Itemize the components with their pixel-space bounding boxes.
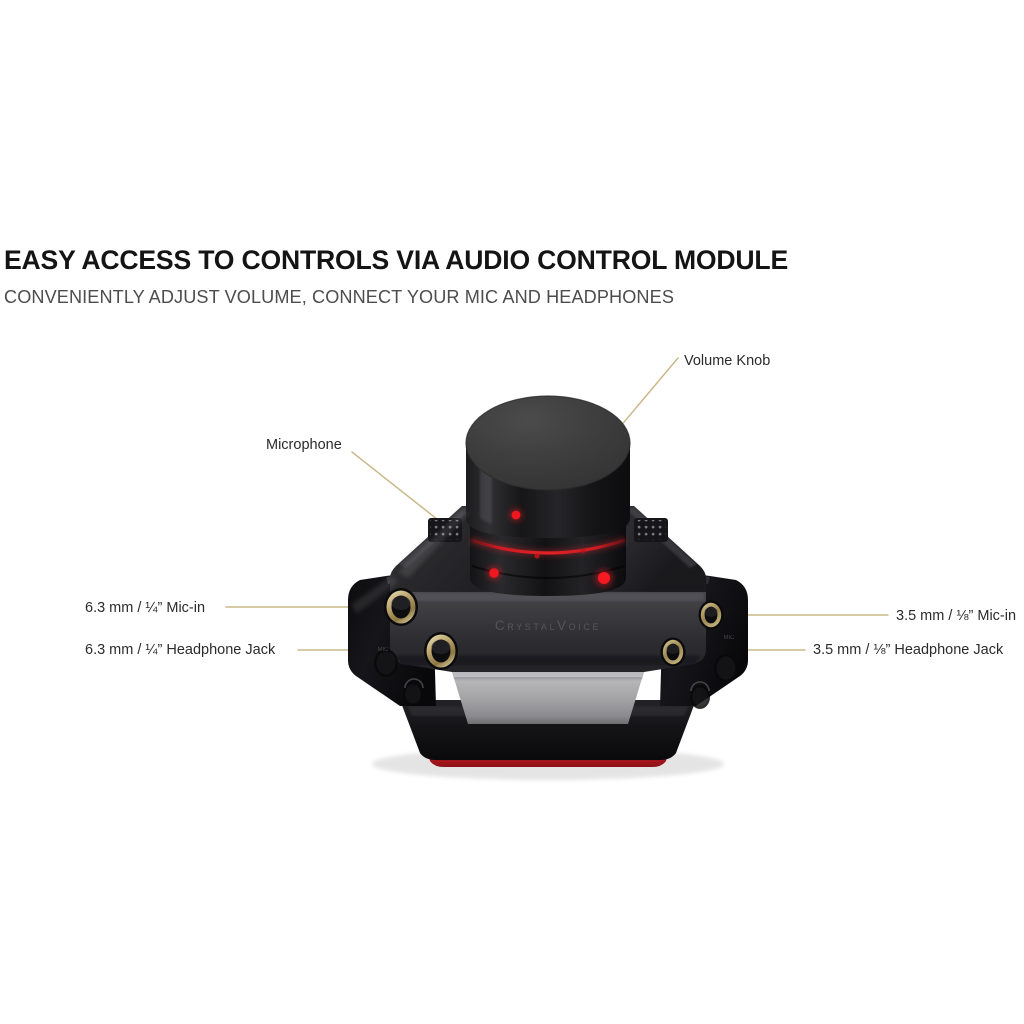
jack-headphone-63mm[interactable] — [424, 632, 458, 670]
callout-label-headphone-jack-63mm: 6.3 mm / ¼” Headphone Jack — [85, 643, 275, 658]
right-port-microlabel: MIC — [724, 635, 736, 641]
front-panel-top-edge — [452, 672, 644, 677]
callout-label-volume-knob: Volume Knob — [684, 354, 770, 369]
leader-line-microphone — [352, 452, 447, 527]
led-indicator-5 — [581, 549, 586, 554]
jack-mic-in-35mm[interactable] — [699, 601, 724, 630]
callout-label-mic-in-63mm: 6.3 mm / ¼” Mic-in — [85, 601, 205, 616]
callout-label-mic-in-35mm: 3.5 mm / ⅛” Mic-in — [896, 609, 1016, 624]
left-port-microlabel: MIC — [378, 647, 390, 653]
front-silver-panel — [452, 672, 644, 724]
jack-headphone-35mm[interactable] — [661, 638, 686, 667]
led-indicator-4 — [534, 553, 539, 558]
audio-control-module: CrystalVoice — [348, 396, 748, 780]
leader-line-volume-knob — [614, 358, 678, 434]
brand-etch-crystalvoice: CrystalVoice — [495, 618, 601, 633]
product-illustration: CrystalVoice — [0, 0, 1024, 1024]
callout-label-headphone-jack-35mm: 3.5 mm / ⅛” Headphone Jack — [813, 643, 1003, 658]
product-diagram-page: EASY ACCESS TO CONTROLS VIA AUDIO CONTRO… — [0, 0, 1024, 1024]
microphone-grille-right — [634, 518, 668, 542]
jack-mic-in-63mm[interactable] — [384, 588, 418, 626]
callout-label-microphone: Microphone — [266, 438, 342, 453]
